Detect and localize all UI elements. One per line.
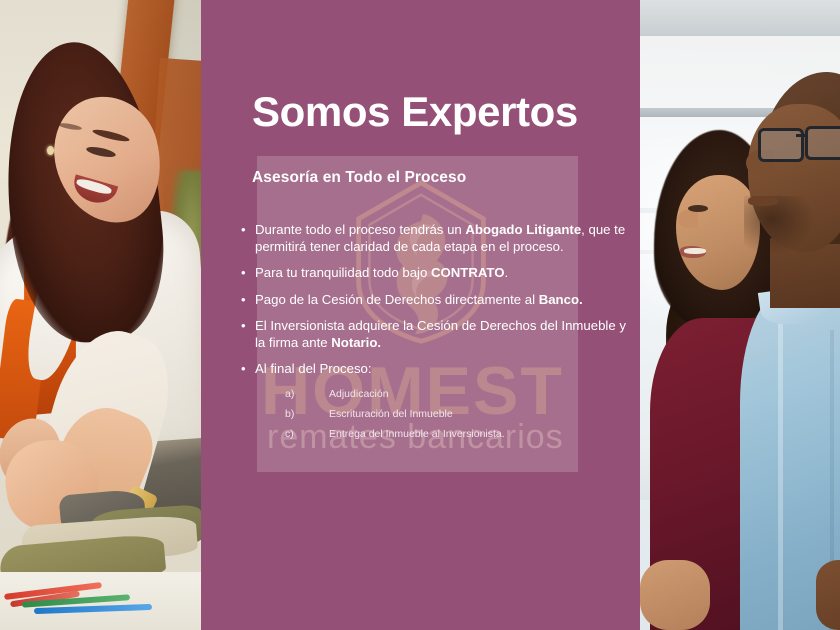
bullet-marker: • (241, 292, 255, 308)
bullet-text: Al final del Proceso: (255, 361, 631, 378)
right-photo-man-lips (748, 196, 778, 206)
right-photo-woman-eye (688, 205, 708, 212)
sub-list-label: c) (285, 428, 329, 441)
right-photo-man-eyeglass-right (805, 126, 840, 160)
section-subtitle: Asesoría en Todo el Proceso (252, 169, 466, 187)
sub-list-item: a) Adjudicación (285, 388, 631, 401)
page-title: Somos Expertos (252, 88, 578, 136)
list-item: • Durante todo el proceso tendrás un Abo… (241, 222, 631, 255)
bullet-text: Durante todo el proceso tendrás un Aboga… (255, 222, 631, 255)
right-photo-man-eyeglass-bridge (796, 134, 808, 137)
list-item: • Pago de la Cesión de Derechos directam… (241, 292, 631, 309)
bullet-marker: • (241, 318, 255, 334)
left-photo-earring (47, 146, 54, 155)
sub-list-item: b) Escrituración del Inmueble (285, 408, 631, 421)
content-area: Somos Expertos HOMEST remates bancarios … (201, 0, 640, 630)
list-item: • Para tu tranquilidad todo bajo CONTRAT… (241, 265, 631, 282)
sub-list-text: Entrega del Inmueble al Inversionista. (329, 428, 631, 441)
sub-list-label: b) (285, 408, 329, 421)
right-photo-window-header (640, 0, 840, 36)
bullet-marker: • (241, 222, 255, 238)
sub-list-label: a) (285, 388, 329, 401)
right-photo-woman-nose (678, 210, 698, 228)
sub-list-text: Escrituración del Inmueble (329, 408, 631, 421)
bullet-text: El Inversionista adquiere la Cesión de D… (255, 318, 631, 351)
right-photo-man-hand (816, 560, 840, 630)
right-photo-woman-teeth (684, 248, 706, 254)
list-item: • Al final del Proceso: (241, 361, 631, 378)
list-item: • El Inversionista adquiere la Cesión de… (241, 318, 631, 351)
bullet-marker: • (241, 361, 255, 377)
left-photo (0, 0, 201, 630)
sub-list-item: c) Entrega del Inmueble al Inversionista… (285, 428, 631, 441)
bullet-text: Para tu tranquilidad todo bajo CONTRATO. (255, 265, 631, 282)
right-photo-woman-hand (640, 560, 710, 630)
sub-list: a) Adjudicación b) Escrituración del Inm… (285, 388, 631, 441)
right-photo-man-shirt-highlight (778, 300, 783, 630)
sub-list-text: Adjudicación (329, 388, 631, 401)
slide: Somos Expertos HOMEST remates bancarios … (0, 0, 840, 630)
right-photo (640, 0, 840, 630)
bullet-marker: • (241, 265, 255, 281)
bullet-text: Pago de la Cesión de Derechos directamen… (255, 292, 631, 309)
bullet-list: • Durante todo el proceso tendrás un Abo… (241, 222, 631, 448)
